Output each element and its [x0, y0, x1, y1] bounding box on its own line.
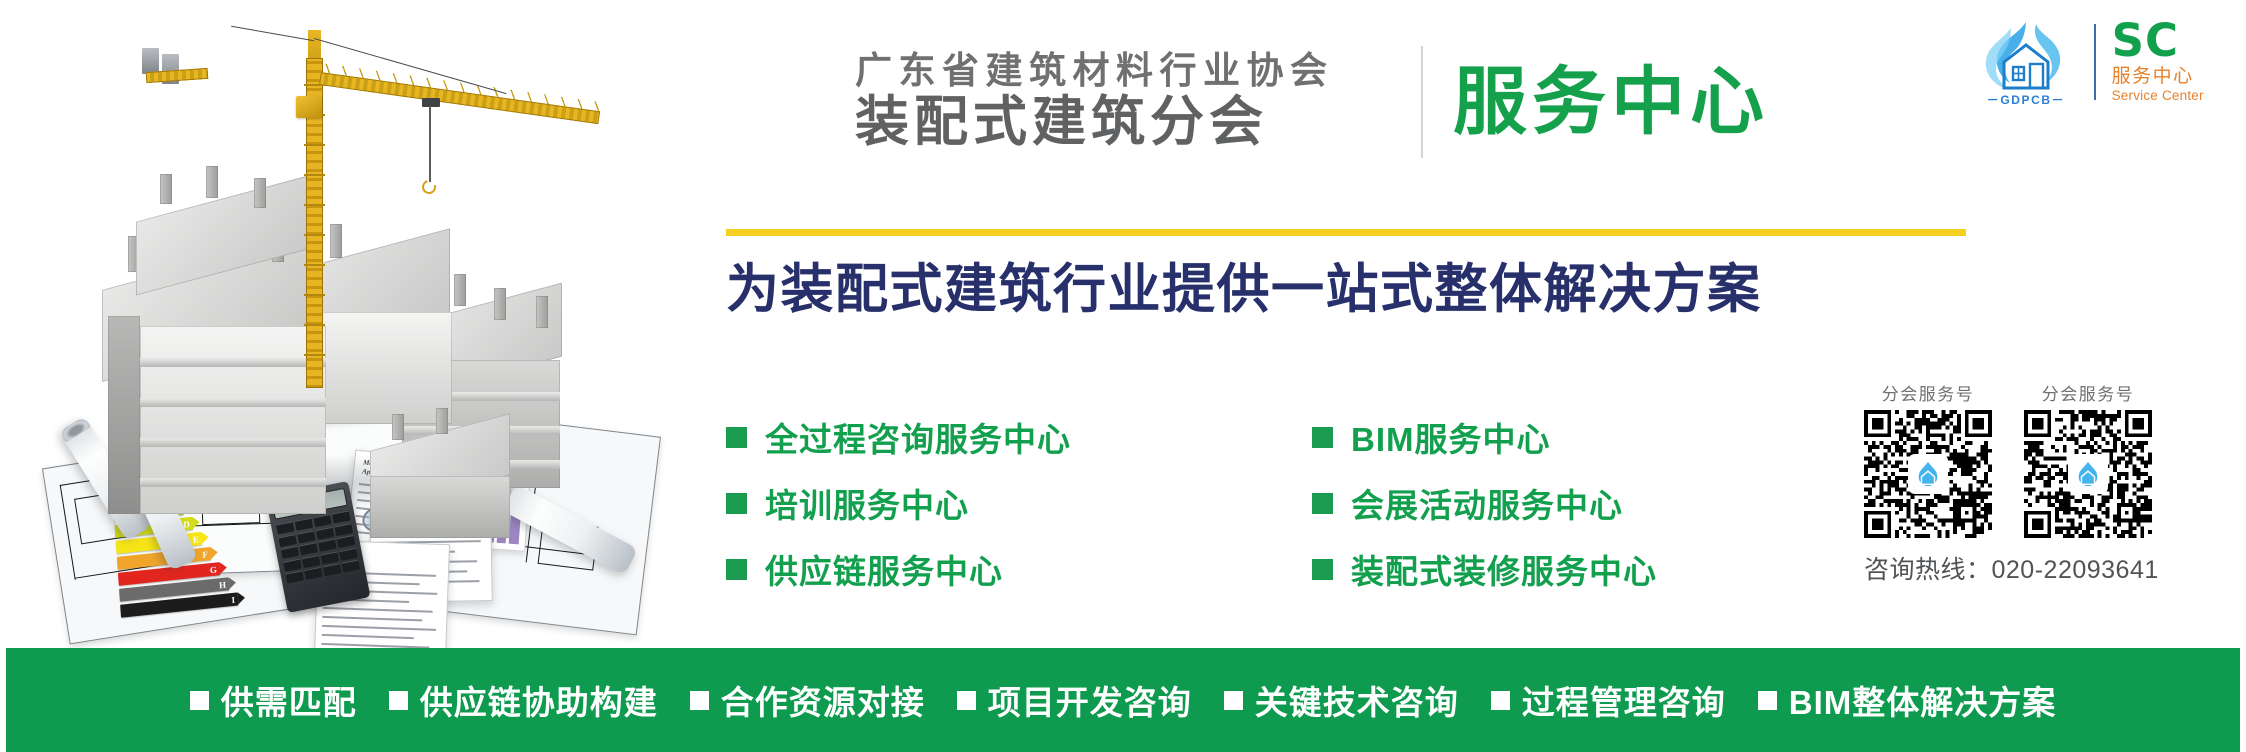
- bottom-bar-label: 关键技术咨询: [1255, 676, 1459, 724]
- bottom-bar-item[interactable]: 供应链协助构建: [389, 676, 658, 724]
- yellow-divider-rule: [726, 229, 1966, 236]
- gdpcb-logo-mark: －GDPCB－: [1974, 16, 2078, 108]
- house-flame-icon: [1980, 18, 2072, 92]
- crane-trolley: [422, 98, 440, 107]
- crane-counterweight: [142, 48, 159, 74]
- bottom-bar-label: 供需匹配: [221, 676, 357, 724]
- sc-english-label: Service Center: [2112, 88, 2204, 104]
- sc-abbreviation: SC: [2112, 19, 2204, 62]
- service-label: 全过程咨询服务中心: [765, 413, 1071, 461]
- list-item[interactable]: 全过程咨询服务中心: [726, 404, 1071, 470]
- service-list-right-column: BIM服务中心 会展活动服务中心 装配式装修服务中心: [1312, 404, 1657, 602]
- bottom-bar-item[interactable]: 合作资源对接: [690, 676, 925, 724]
- square-bullet-icon: [726, 493, 747, 514]
- association-line-1: 广东省建筑材料行业协会: [855, 52, 1415, 91]
- qr-center-logo-icon: [1910, 456, 1946, 492]
- qr-caption: 分会服务号: [1864, 380, 1992, 405]
- bottom-bar-label: BIM整体解决方案: [1789, 676, 2057, 724]
- service-label: 装配式装修服务中心: [1351, 545, 1657, 593]
- logo-mark-text: －GDPCB－: [1974, 91, 2078, 108]
- sc-chinese-label: 服务中心: [2112, 65, 2204, 89]
- square-bullet-icon: [1312, 427, 1333, 448]
- bottom-bar-label: 合作资源对接: [721, 676, 925, 724]
- qr-center-logo-icon: [2070, 456, 2106, 492]
- tower-crane: [200, 10, 680, 410]
- brand-logo[interactable]: －GDPCB－ SC 服务中心 Service Center: [1974, 14, 2236, 110]
- bottom-bar-label: 供应链协助构建: [420, 676, 658, 724]
- logo-vertical-divider: [2094, 24, 2096, 100]
- square-bullet-icon: [726, 559, 747, 580]
- bottom-bar-item[interactable]: 供需匹配: [190, 676, 357, 724]
- title-vertical-divider: [1421, 46, 1423, 158]
- qr-code-icon[interactable]: [2024, 410, 2152, 538]
- list-item[interactable]: 会展活动服务中心: [1312, 470, 1657, 536]
- bottom-bar-item[interactable]: 过程管理咨询: [1491, 676, 1726, 724]
- qr-caption: 分会服务号: [2024, 380, 2152, 405]
- square-bullet-icon: [389, 691, 408, 710]
- crane-hoist-line: [429, 106, 431, 182]
- service-center-title: 服务中心: [1453, 65, 1769, 139]
- house-flame-icon: [1914, 460, 1942, 488]
- association-name: 广东省建筑材料行业协会 装配式建筑分会: [855, 38, 1415, 166]
- construction-site-illustration: A B C D E F G H I: [0, 0, 690, 648]
- square-bullet-icon: [1491, 691, 1510, 710]
- association-line-2: 装配式建筑分会: [855, 94, 1415, 151]
- service-list-left-column: 全过程咨询服务中心 培训服务中心 供应链服务中心: [726, 404, 1071, 602]
- banner-root: A B C D E F G H I: [0, 0, 2246, 752]
- bottom-bar-items: 供需匹配 供应链协助构建 合作资源对接 项目开发咨询 关键技术咨询 过程管理咨询: [174, 676, 2073, 724]
- slogan-text: 为装配式建筑行业提供一站式整体解决方案: [726, 255, 1976, 325]
- bottom-bar-item[interactable]: BIM整体解决方案: [1758, 676, 2057, 724]
- square-bullet-icon: [726, 427, 747, 448]
- hotline-text: 咨询热线：020-22093641: [1864, 550, 2246, 584]
- service-label: 会展活动服务中心: [1351, 479, 1623, 527]
- square-bullet-icon: [1758, 691, 1777, 710]
- service-center-list: 全过程咨询服务中心 培训服务中心 供应链服务中心 BIM服务中心 会展活动服务中…: [726, 404, 1796, 604]
- list-item[interactable]: 装配式装修服务中心: [1312, 536, 1657, 602]
- crane-operator-cab: [296, 96, 322, 118]
- sc-logo-text-group: SC 服务中心 Service Center: [2112, 19, 2204, 104]
- house-flame-icon: [2074, 460, 2102, 488]
- bottom-bar-item[interactable]: 关键技术咨询: [1224, 676, 1459, 724]
- square-bullet-icon: [690, 691, 709, 710]
- list-item[interactable]: 供应链服务中心: [726, 536, 1071, 602]
- service-label: 供应链服务中心: [765, 545, 1003, 593]
- square-bullet-icon: [1224, 691, 1243, 710]
- bottom-bar-label: 项目开发咨询: [988, 676, 1192, 724]
- bottom-bar-label: 过程管理咨询: [1522, 676, 1726, 724]
- crane-hook-icon: [420, 178, 439, 197]
- service-label: 培训服务中心: [765, 479, 969, 527]
- qr-code-icon[interactable]: [1864, 410, 1992, 538]
- bottom-bar-item[interactable]: 项目开发咨询: [957, 676, 1192, 724]
- header-title-block: 广东省建筑材料行业协会 装配式建筑分会 服务中心: [855, 38, 1965, 166]
- square-bullet-icon: [957, 691, 976, 710]
- square-bullet-icon: [1312, 559, 1333, 580]
- list-item[interactable]: 培训服务中心: [726, 470, 1071, 536]
- service-label: BIM服务中心: [1351, 413, 1551, 461]
- bottom-keyword-bar: 供需匹配 供应链协助构建 合作资源对接 项目开发咨询 关键技术咨询 过程管理咨询: [6, 648, 2240, 752]
- square-bullet-icon: [1312, 493, 1333, 514]
- list-item[interactable]: BIM服务中心: [1312, 404, 1657, 470]
- qr-code-group: 分会服务号 分会服务号: [1856, 380, 2246, 550]
- square-bullet-icon: [190, 691, 209, 710]
